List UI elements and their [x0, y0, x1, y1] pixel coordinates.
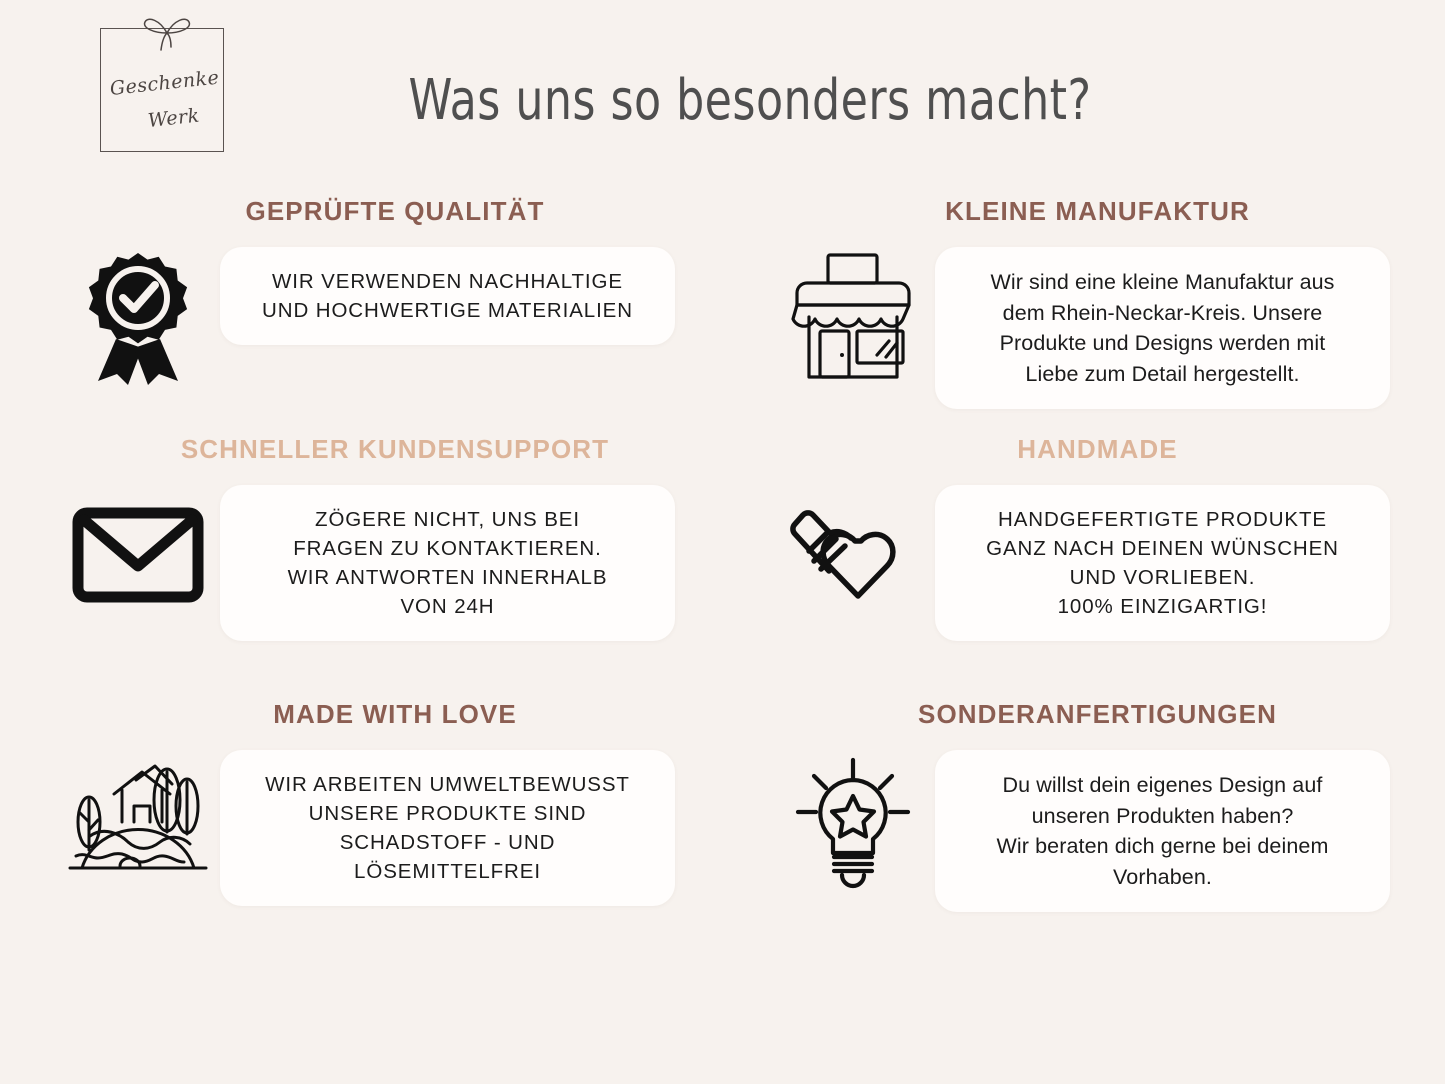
page-title: Was uns so besonders macht?	[310, 68, 1190, 133]
feature-body: Wir sind eine kleine Manufaktur aus dem …	[770, 247, 1390, 409]
card-text-line: Vorhaben.	[953, 862, 1372, 893]
feature-card-kleine-manufaktur: Wir sind eine kleine Manufaktur aus dem …	[935, 247, 1390, 409]
feature-body: WIR VERWENDEN NACHHALTIGE UND HOCHWERTIG…	[55, 247, 675, 387]
envelope-mail-icon	[55, 485, 220, 625]
storefront-icon	[770, 247, 935, 387]
feature-sonderanfertigungen: SONDERANFERTIGUNGEN	[770, 699, 1390, 912]
card-text-line: ZÖGERE NICHT, UNS BEI	[238, 505, 657, 534]
feature-card-sonderanfertigungen: Du willst dein eigenes Design auf unsere…	[935, 750, 1390, 912]
card-text-line: LÖSEMITTELFREI	[238, 857, 657, 886]
feature-kleine-manufaktur: KLEINE MANUFAKTUR	[770, 196, 1390, 409]
card-text-line: Wir beraten dich gerne bei deinem	[953, 831, 1372, 862]
card-text-line: Produkte und Designs werden mit	[953, 328, 1372, 359]
feature-card-geprufte-qualitaet: WIR VERWENDEN NACHHALTIGE UND HOCHWERTIG…	[220, 247, 675, 345]
feature-title-sonderanfertigungen: SONDERANFERTIGUNGEN	[770, 699, 1390, 730]
feature-body: ZÖGERE NICHT, UNS BEI FRAGEN ZU KONTAKTI…	[55, 485, 675, 641]
card-text-line: WIR ANTWORTEN INNERHALB	[238, 563, 657, 592]
hand-heart-icon	[770, 485, 935, 625]
feature-body: HANDGEFERTIGTE PRODUKTE GANZ NACH DEINEN…	[770, 485, 1390, 641]
eco-earth-nature-icon	[55, 750, 220, 890]
feature-title-handmade: HANDMADE	[770, 434, 1390, 465]
card-text-line: GANZ NACH DEINEN WÜNSCHEN	[953, 534, 1372, 563]
feature-card-made-with-love: WIR ARBEITEN UMWELTBEWUSST UNSERE PRODUK…	[220, 750, 675, 906]
logo-word-werk: Werk	[147, 105, 201, 132]
logo-word-geschenke: Geschenke	[109, 67, 220, 100]
feature-geprufte-qualitaet: GEPRÜFTE QUALITÄT WIR VERWENDEN NACHHALT…	[55, 196, 675, 387]
card-text-line: Du willst dein eigenes Design auf	[953, 770, 1372, 801]
feature-card-schneller-kundensupport: ZÖGERE NICHT, UNS BEI FRAGEN ZU KONTAKTI…	[220, 485, 675, 641]
card-text-line: SCHADSTOFF - UND	[238, 828, 657, 857]
card-text-line: FRAGEN ZU KONTAKTIEREN.	[238, 534, 657, 563]
card-text-line: Liebe zum Detail hergestellt.	[953, 359, 1372, 390]
page-header: Geschenke Werk Was uns so besonders mach…	[0, 0, 1445, 180]
card-text-line: Wir sind eine kleine Manufaktur aus	[953, 267, 1372, 298]
brand-logo: Geschenke Werk	[100, 28, 228, 156]
feature-body: Du willst dein eigenes Design auf unsere…	[770, 750, 1390, 912]
card-text-line: VON 24H	[238, 592, 657, 621]
logo-wordmark: Geschenke Werk	[100, 28, 224, 152]
quality-badge-check-icon	[55, 247, 220, 387]
feature-handmade: HANDMADE HANDGEFERTIGTE PRODUKTE GANZ NA…	[770, 434, 1390, 641]
feature-schneller-kundensupport: SCHNELLER KUNDENSUPPORT ZÖGERE NICHT, UN…	[55, 434, 675, 641]
feature-title-geprufte-qualitaet: GEPRÜFTE QUALITÄT	[55, 196, 675, 227]
feature-card-handmade: HANDGEFERTIGTE PRODUKTE GANZ NACH DEINEN…	[935, 485, 1390, 641]
feature-body: WIR ARBEITEN UMWELTBEWUSST UNSERE PRODUK…	[55, 750, 675, 906]
card-text-line: dem Rhein-Neckar-Kreis. Unsere	[953, 298, 1372, 329]
card-text-line: UND VORLIEBEN.	[953, 563, 1372, 592]
feature-title-kleine-manufaktur: KLEINE MANUFAKTUR	[770, 196, 1390, 227]
card-text-line: UNSERE PRODUKTE SIND	[238, 799, 657, 828]
feature-made-with-love: MADE WITH LOVE	[55, 699, 675, 906]
card-text-line: 100% EINZIGARTIG!	[953, 592, 1372, 621]
card-text-line: WIR VERWENDEN NACHHALTIGE	[238, 267, 657, 296]
feature-title-made-with-love: MADE WITH LOVE	[55, 699, 675, 730]
feature-title-schneller-kundensupport: SCHNELLER KUNDENSUPPORT	[55, 434, 675, 465]
card-text-line: UND HOCHWERTIGE MATERIALIEN	[238, 296, 657, 325]
card-text-line: HANDGEFERTIGTE PRODUKTE	[953, 505, 1372, 534]
card-text-line: WIR ARBEITEN UMWELTBEWUSST	[238, 770, 657, 799]
card-text-line: unseren Produkten haben?	[953, 801, 1372, 832]
lightbulb-star-idea-icon	[770, 750, 935, 890]
